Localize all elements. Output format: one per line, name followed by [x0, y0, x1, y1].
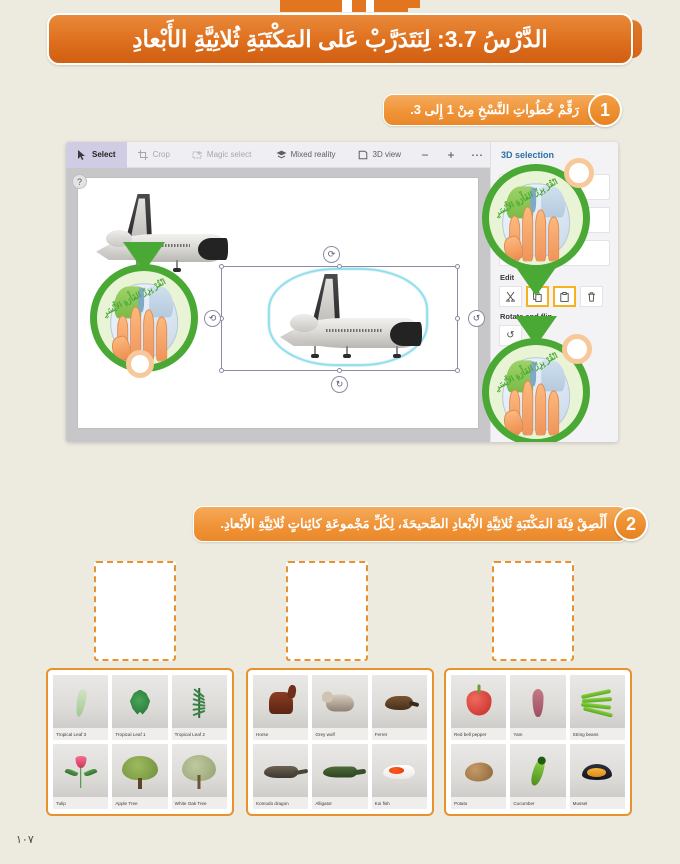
finger [535, 383, 546, 435]
apple-tree-art [121, 755, 159, 789]
task-1-instruction: رَقِّمْ خُطُواتِ النَّسْخِ مِنْ 1 إِلى 3… [383, 94, 602, 126]
yam-art [533, 689, 544, 717]
horse-art [269, 692, 293, 714]
sticker-image [312, 675, 367, 728]
mixed-reality-icon [276, 150, 286, 160]
ferret-art [385, 696, 413, 710]
sticker-label: Red bell pepper [451, 728, 506, 740]
shuttle-wheel [311, 354, 319, 358]
toolbar-label-select: Select [92, 150, 116, 159]
sticker-image [451, 744, 506, 797]
rotate-z-handle[interactable]: ↺ [468, 310, 485, 327]
tulip-art [68, 756, 94, 788]
sticker-card[interactable]: Tulip [53, 744, 108, 809]
sticker-label: Horse [253, 728, 308, 740]
sticker-image [112, 744, 167, 797]
sticker-image [570, 675, 625, 728]
white-oak-tree-art [181, 755, 217, 789]
selection-handle-bl[interactable] [219, 368, 224, 373]
sticker-image [372, 744, 427, 797]
click-indicator [562, 334, 592, 364]
toolbar-item-magic-select[interactable]: Magic select [181, 142, 262, 168]
sticker-image [172, 744, 227, 797]
sticker-card[interactable]: Horse [253, 675, 308, 740]
sticker-label: Ferret [372, 728, 427, 740]
cursor-icon [77, 150, 87, 160]
selection-handle-br[interactable] [455, 368, 460, 373]
alligator-art [323, 766, 357, 777]
magic-select-icon [192, 150, 202, 160]
sticker-image [172, 675, 227, 728]
string-beans-art [580, 690, 614, 716]
group-plants: Tropical Leaf 2 Tropical Leaf 1 Tropical… [46, 668, 234, 816]
shuttle-window-strip [326, 329, 382, 332]
sticker-label: White Oak Tree [172, 797, 227, 809]
sticker-card[interactable]: Potato [451, 744, 506, 809]
finger [535, 209, 546, 261]
toolbar-item-mixed-reality[interactable]: Mixed reality [265, 142, 347, 168]
sticker-image [53, 744, 108, 797]
tropical-leaf-1-art [129, 690, 151, 716]
click-callout-panel-bottom: انْقُرْ بِزِرِّ الفَأْرَةِ الأَيْسَرِ [482, 338, 590, 442]
toolbar-label-crop: Crop [153, 150, 170, 159]
delete-button[interactable] [580, 286, 603, 307]
komodo-dragon-art [264, 766, 298, 778]
rotate-y-handle[interactable]: ⟳ [323, 246, 340, 263]
sticker-image [510, 675, 565, 728]
sticker-label: Alligator [312, 797, 367, 809]
lesson-title-plate: الدَّرْسُ 3.7: لِنَتَدَرَّبْ عَلى المَكْ… [47, 13, 633, 65]
task-2-number: 2 [614, 507, 648, 541]
click-callout-canvas: انْقُرْ بِزِرِّ الفَأْرَةِ الأَيْسَرِ [90, 264, 198, 372]
help-icon[interactable]: ? [72, 174, 87, 189]
mussel-art [582, 764, 612, 780]
textbook-page: الدَّرْسُ 3.7: لِنَتَدَرَّبْ عَلى المَكْ… [0, 0, 680, 864]
cube-view-icon [358, 150, 368, 160]
selection-handle-mr[interactable] [455, 316, 460, 321]
sticker-card[interactable]: Yam [510, 675, 565, 740]
zoom-out-button[interactable]: − [412, 142, 438, 168]
sticker-card[interactable]: Komodo dragon [253, 744, 308, 809]
click-callout-panel-top: انْقُرْ بِزِرِّ الفَأْرَةِ الأَيْسَرِ [482, 164, 590, 272]
potato-art [465, 762, 493, 781]
sticker-card[interactable]: Tropical Leaf 3 [53, 675, 108, 740]
dropzone-1[interactable] [492, 561, 574, 661]
sticker-label: Koi fish [372, 797, 427, 809]
click-indicator [126, 350, 154, 378]
shuttle-nose [390, 322, 422, 346]
sticker-image [253, 675, 308, 728]
toolbar-label-3d-view: 3D view [373, 150, 401, 159]
tropical-leaf-2-art [184, 688, 214, 718]
task-2: 2 أَلْصِقْ فِئَةَ المَكْتَبَةِ ثُلاثِيَّ… [193, 506, 648, 542]
sticker-image [112, 675, 167, 728]
sticker-card[interactable]: Cucumber [510, 744, 565, 809]
finger [548, 216, 559, 260]
cucumber-art [529, 757, 547, 787]
sticker-label: Grey wolf [312, 728, 367, 740]
sticker-card[interactable]: Red bell pepper [451, 675, 506, 740]
toolbar-label-mixed-reality: Mixed reality [291, 150, 336, 159]
sticker-card[interactable]: Apple Tree [112, 744, 167, 809]
space-shuttle-copy[interactable] [274, 274, 422, 360]
sticker-label: Yam [510, 728, 565, 740]
crop-icon [138, 150, 148, 160]
selection-handle-bc[interactable] [337, 368, 342, 373]
rotate-x-handle[interactable]: ⟲ [204, 310, 221, 327]
dropzone-2[interactable] [286, 561, 368, 661]
sticker-card[interactable]: Mussel [570, 744, 625, 809]
sticker-card[interactable]: Tropical Leaf 2 [172, 675, 227, 740]
toolbar-label-magic-select: Magic select [207, 150, 251, 159]
sticker-card[interactable]: String beans [570, 675, 625, 740]
shuttle-nose [198, 238, 228, 260]
click-indicator [564, 158, 594, 188]
sticker-label: Cucumber [510, 797, 565, 809]
sticker-label: Komodo dragon [253, 797, 308, 809]
top-decoration-pattern [280, 0, 408, 12]
sticker-label: Tulip [53, 797, 108, 809]
page-number: ١٠٧ [16, 833, 34, 846]
sticker-image [372, 675, 427, 728]
lesson-title-text: الدَّرْسُ 3.7: لِنَتَدَرَّبْ عَلى المَكْ… [132, 26, 547, 53]
sticker-image [451, 675, 506, 728]
group-food: String beans Yam Red bell pepper Mussel … [444, 668, 632, 816]
lesson-title-banner: الدَّرْسُ 3.7: لِنَتَدَرَّبْ عَلى المَكْ… [47, 13, 633, 65]
selection-handle-tc[interactable] [337, 264, 342, 269]
shuttle-wheel [343, 354, 351, 358]
group-animals: Ferret Grey wolf Horse Koi fish Alligato… [246, 668, 434, 816]
shuttle-wheel [393, 354, 401, 358]
sticker-card[interactable]: Koi fish [372, 744, 427, 809]
task-2-instruction: أَلْصِقْ فِئَةَ المَكْتَبَةِ ثُلاثِيَّةِ… [193, 506, 628, 542]
sticker-label: Tropical Leaf 1 [112, 728, 167, 740]
sticker-image [510, 744, 565, 797]
sticker-label: Tropical Leaf 2 [172, 728, 227, 740]
finger [156, 316, 167, 360]
paint-3d-window: Select Crop Magic select Mixed reality [66, 142, 618, 442]
sticker-label: Mussel [570, 797, 625, 809]
selection-handle-tl[interactable] [219, 264, 224, 269]
top-decoration-strip [408, 0, 420, 8]
toolbar-item-select[interactable]: Select [66, 142, 127, 168]
zoom-in-button[interactable]: + [438, 142, 464, 168]
tropical-leaf-3-art [74, 688, 88, 717]
selection-handle-tr[interactable] [455, 264, 460, 269]
grey-wolf-art [326, 694, 354, 711]
sticker-card[interactable]: Ferret [372, 675, 427, 740]
finger [548, 390, 559, 434]
sticker-image [53, 675, 108, 728]
toolbar-item-crop[interactable]: Crop [127, 142, 181, 168]
sticker-image [312, 744, 367, 797]
dropzone-3[interactable] [94, 561, 176, 661]
sticker-card[interactable]: White Oak Tree [172, 744, 227, 809]
sticker-image [570, 744, 625, 797]
sticker-card[interactable]: Grey wolf [312, 675, 367, 740]
red-bell-pepper-art [466, 690, 491, 715]
top-decoration-bar [280, 0, 408, 12]
sticker-card[interactable]: Tropical Leaf 1 [112, 675, 167, 740]
rotate-free-handle[interactable]: ↻ [331, 376, 348, 393]
task-1: 1 رَقِّمْ خُطُواتِ النَّسْخِ مِنْ 1 إِلى… [383, 93, 622, 127]
hand-illustration [508, 381, 568, 435]
sticker-label: Tropical Leaf 3 [53, 728, 108, 740]
sticker-label: Apple Tree [112, 797, 167, 809]
sticker-image [253, 744, 308, 797]
sticker-label: String beans [570, 728, 625, 740]
toolbar-item-3d-view[interactable]: 3D view [347, 142, 412, 168]
sticker-card[interactable]: Alligator [312, 744, 367, 809]
hand-illustration [508, 207, 568, 261]
shuttle-pod [290, 314, 318, 332]
task-1-number: 1 [588, 93, 622, 127]
sticker-label: Potato [451, 797, 506, 809]
koi-fish-art [383, 765, 415, 779]
